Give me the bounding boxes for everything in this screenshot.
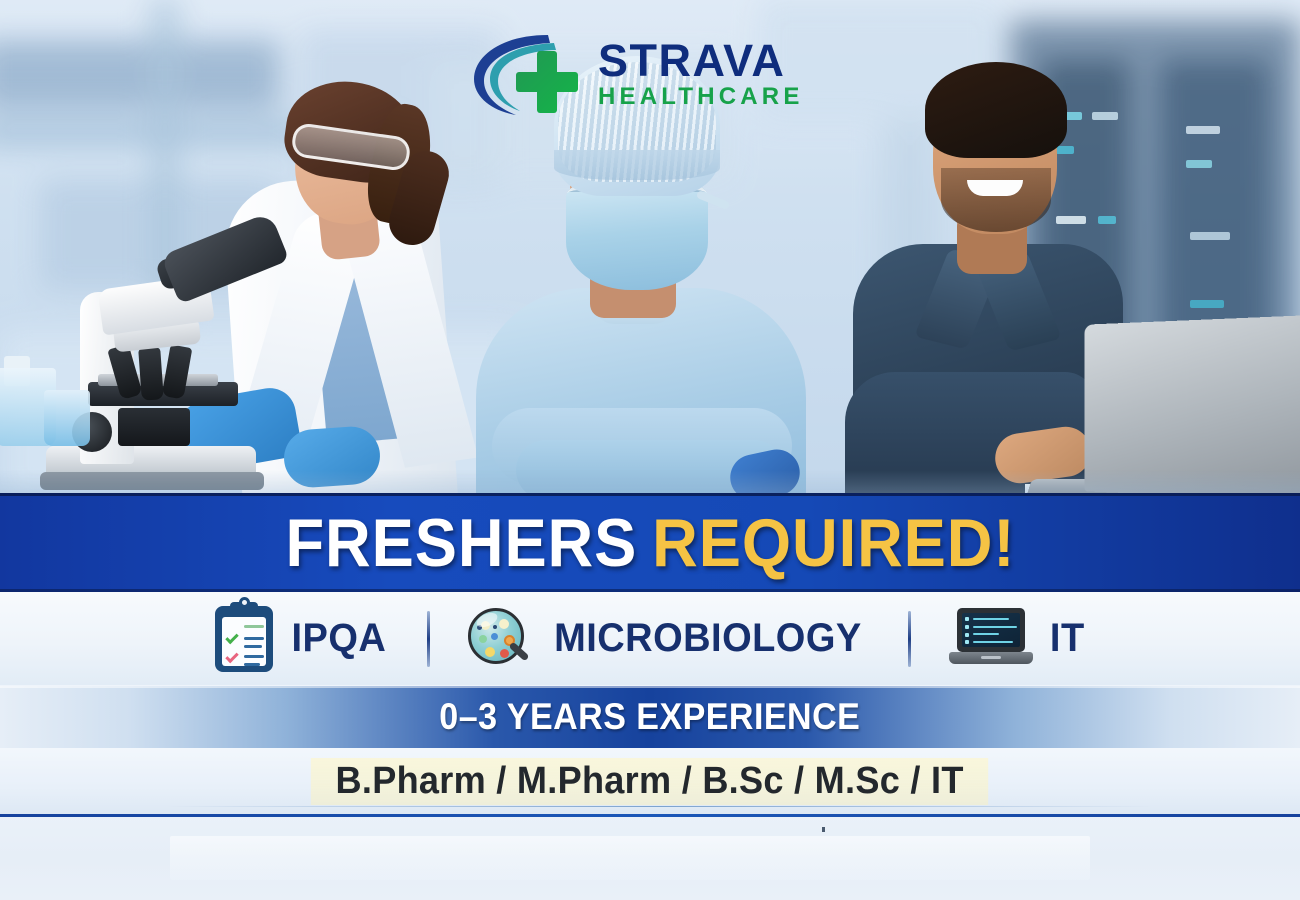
headline-banner: FRESHERSREQUIRED! [0,493,1300,592]
qualifications-text: B.Pharm / M.Pharm / B.Sc / M.Sc / IT [311,758,989,805]
petri-dish-magnifier-icon [468,608,530,670]
brand-logo: STRAVA HEALTHCARE [470,26,840,122]
department-ipqa: IPQA [215,606,389,672]
department-divider [908,611,911,667]
microscope-prop [36,196,286,496]
figure-lab-scientist [0,0,440,496]
department-it: IT [949,608,1086,670]
recruitment-poster: STRAVA HEALTHCARE FRESHERSREQUIRED! [0,0,1300,900]
footer-panel [170,836,1090,880]
laptop-prop [1084,315,1300,496]
department-label: IPQA [291,616,386,661]
laptop-code-icon [949,608,1033,670]
department-row: IPQA MICROBIOLOGY [0,592,1300,685]
qualifications-row: B.Pharm / M.Pharm / B.Sc / M.Sc / IT [0,748,1300,814]
headline-highlight: REQUIRED! [652,505,1015,581]
brand-tagline: HEALTHCARE [598,85,804,109]
department-label: IT [1049,616,1084,661]
figure-it-professional [845,0,1300,496]
department-divider [427,611,430,667]
logo-swoosh-icon [470,29,594,119]
headline-text: FRESHERSREQUIRED! [285,504,1015,582]
clipboard-checklist-icon [215,606,273,672]
department-microbiology: MICROBIOLOGY [468,608,870,670]
headline-primary: FRESHERS [285,505,637,581]
footer-dot-mark [822,827,825,832]
qualifications-underline [165,806,1155,807]
footer-band [0,814,1300,900]
experience-bar: 0–3 YEARS EXPERIENCE [0,686,1300,748]
brand-name: STRAVA [598,39,804,83]
hero-photo-band: STRAVA HEALTHCARE [0,0,1300,496]
footer-divider [0,814,1300,817]
department-label: MICROBIOLOGY [554,616,862,661]
medical-cross-icon [516,51,578,113]
experience-text: 0–3 YEARS EXPERIENCE [439,696,860,738]
